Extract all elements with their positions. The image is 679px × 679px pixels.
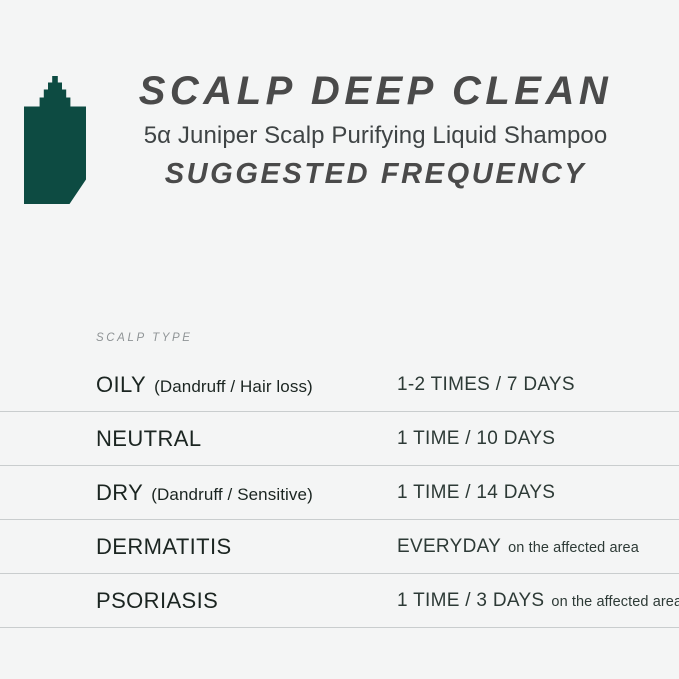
page-title: SCALP DEEP CLEAN [110,68,641,114]
frequency-note: on the affected area [551,594,679,610]
cell-scalp-type: DERMATITIS [96,534,240,560]
header: SCALP DEEP CLEAN 5α Juniper Scalp Purify… [0,0,679,150]
frequency-value: 1 TIME / 14 DAYS [397,482,555,504]
scalp-type-label: PSORIASIS [96,588,218,614]
cell-frequency: 1-2 TIMES / 7 DAYS [397,374,582,396]
scalp-type-label: OILY [96,372,146,398]
product-subtitle: 5α Juniper Scalp Purifying Liquid Shampo… [110,118,641,154]
scalp-type-note: (Dandruff / Sensitive) [151,485,313,505]
column-header-scalp-type: SCALP TYPE [0,318,679,358]
frequency-value: 1-2 TIMES / 7 DAYS [397,374,575,396]
frequency-value: EVERYDAY [397,536,501,558]
table-row: PSORIASIS 1 TIME / 3 DAYS on the affecte… [0,574,679,628]
cell-frequency: 1 TIME / 3 DAYS on the affected area [397,590,679,612]
cell-frequency: 1 TIME / 10 DAYS [397,428,562,450]
table-row: DRY (Dandruff / Sensitive) 1 TIME / 14 D… [0,466,679,520]
cell-scalp-type: PSORIASIS [96,588,226,614]
frequency-note: on the affected area [508,540,639,556]
scalp-type-label: DERMATITIS [96,534,232,560]
frequency-table: SCALP TYPE OILY (Dandruff / Hair loss) 1… [0,318,679,628]
frequency-value: 1 TIME / 10 DAYS [397,428,555,450]
frequency-value: 1 TIME / 3 DAYS [397,590,544,612]
scalp-type-note: (Dandruff / Hair loss) [154,377,313,397]
cell-scalp-type: OILY (Dandruff / Hair loss) [96,372,313,398]
cell-frequency: 1 TIME / 14 DAYS [397,482,562,504]
table-row: DERMATITIS EVERYDAY on the affected area [0,520,679,574]
bottle-icon-container [0,72,110,204]
scalp-type-label: DRY [96,480,143,506]
table-row: NEUTRAL 1 TIME / 10 DAYS [0,412,679,466]
cell-scalp-type: NEUTRAL [96,426,210,452]
title-block: SCALP DEEP CLEAN 5α Juniper Scalp Purify… [110,68,679,194]
cell-frequency: EVERYDAY on the affected area [397,536,639,558]
table-row: OILY (Dandruff / Hair loss) 1-2 TIMES / … [0,358,679,412]
cell-scalp-type: DRY (Dandruff / Sensitive) [96,480,313,506]
scalp-type-label: NEUTRAL [96,426,202,452]
section-title: SUGGESTED FREQUENCY [110,156,641,194]
shampoo-bottle-icon [24,76,86,204]
